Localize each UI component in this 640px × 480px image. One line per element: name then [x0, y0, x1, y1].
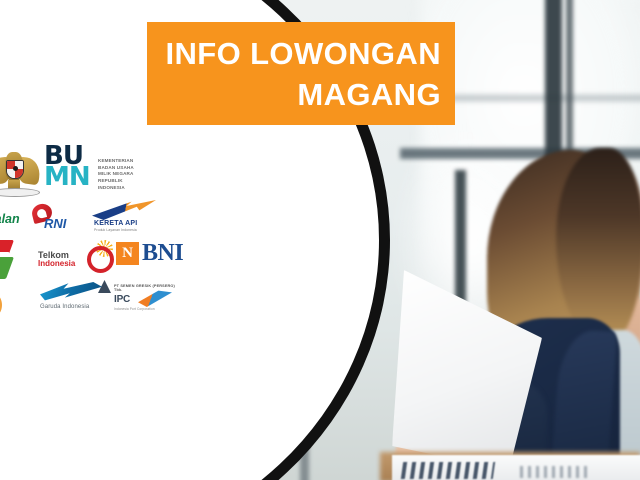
garuda-indonesia-bird-icon	[40, 282, 102, 302]
ipc-sublabel: Indonesia Port Corporation	[114, 307, 155, 311]
pertamina-arrow-green-icon	[0, 257, 14, 279]
headline-line-2: MAGANG	[147, 74, 441, 115]
bni-mark-icon: N	[116, 242, 139, 265]
poster-canvas: BU MN KEMENTERIANBADAN USAHAMILIK NEGARA…	[0, 0, 640, 480]
shield-star-icon	[13, 166, 18, 171]
pancasila-shield-icon	[6, 160, 24, 179]
garuda-indonesia-label: Garuda Indonesia	[40, 304, 89, 310]
bni-logo: N BNI	[116, 240, 194, 274]
bumn-wordmark-line2: MN	[44, 167, 96, 188]
garuda-pancasila-emblem-icon	[0, 142, 40, 196]
bni-label: BNI	[142, 240, 183, 267]
garuda-indonesia-logo: Garuda Indonesia	[34, 282, 114, 318]
kereta-api-logo: KERETA API Produk Layanan Indonesia	[86, 200, 158, 238]
headline-line-1: INFO LOWONGAN	[147, 33, 441, 74]
bumn-ministry-caption: KEMENTERIANBADAN USAHAMILIK NEGARAREPUBL…	[98, 158, 134, 191]
headline-banner: INFO LOWONGAN MAGANG	[147, 22, 455, 125]
kereta-api-label: KERETA API	[94, 220, 137, 227]
printed-bar-chart-secondary	[520, 466, 590, 478]
cropped-orange-logo	[0, 290, 2, 320]
telkom-indonesia-logo: Telkom Indonesia	[38, 244, 114, 276]
ipc-label: IPC	[114, 294, 130, 305]
bumn-wordmark-logo: BU MN	[44, 146, 96, 194]
garuda-ribbon-icon	[0, 188, 40, 197]
kereta-api-arrow-icon	[92, 200, 156, 220]
ipc-swoosh-icon	[138, 290, 172, 307]
telkom-ring-icon	[87, 246, 114, 273]
rni-label: RNI	[44, 216, 66, 231]
kereta-api-sublabel: Produk Layanan Indonesia	[94, 228, 137, 232]
bumn-logo-collage: BU MN KEMENTERIANBADAN USAHAMILIK NEGARA…	[0, 140, 166, 330]
telkom-label-bottom: Indonesia	[38, 259, 75, 268]
rni-logo: RNI	[28, 204, 84, 234]
printed-bar-chart	[401, 462, 495, 479]
ipc-logo: IPC Indonesia Port Corporation	[114, 290, 178, 320]
pegadaian-label: dalan	[0, 212, 20, 226]
cropped-orange-ring-icon	[0, 290, 2, 320]
